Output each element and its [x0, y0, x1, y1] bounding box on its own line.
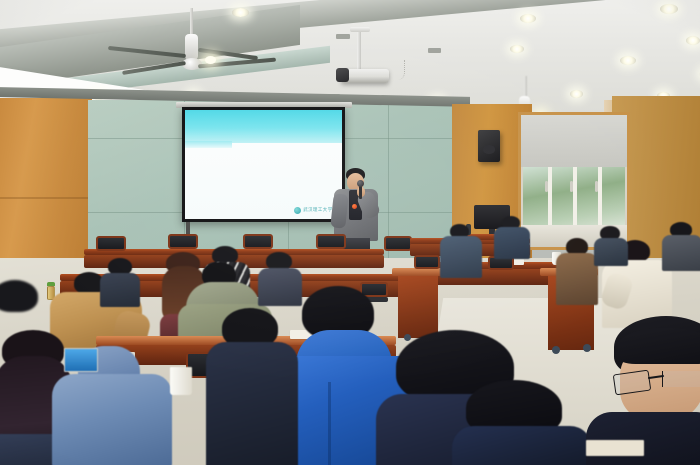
- desk-mid-mobile: [398, 272, 438, 338]
- window-blind: [521, 115, 627, 167]
- ceiling-fan-left: [150, 28, 270, 88]
- projector-pole: [357, 30, 361, 70]
- tea-jar-lid: [47, 282, 55, 286]
- presentation-slide: 武汉理工大学: [185, 110, 342, 219]
- ceiling-projector: [348, 30, 408, 88]
- attendee-torso: [556, 253, 598, 305]
- laptop: [64, 348, 98, 372]
- downlight-icon: [660, 4, 678, 14]
- eyeglass-temple: [662, 371, 700, 387]
- attendee-hair-front: [618, 328, 700, 364]
- attendee-torso: [52, 374, 172, 465]
- slide-logo-mark-icon: [294, 207, 301, 214]
- window-latch: [595, 181, 598, 192]
- chair: [168, 234, 198, 249]
- projector-cable: [388, 60, 405, 80]
- slide-header-band: [185, 110, 342, 143]
- paper-cup: [170, 367, 192, 395]
- desk-caster: [583, 344, 591, 352]
- attendee-torso: [586, 412, 700, 465]
- microphone-head-icon: [357, 180, 364, 187]
- downlight-icon: [510, 45, 524, 53]
- chair: [243, 234, 273, 249]
- attendee-torso: [0, 308, 50, 368]
- slide-logo-text: 武汉理工大学: [303, 207, 332, 213]
- downlight-icon: [520, 14, 536, 23]
- downlight-icon: [620, 56, 636, 65]
- window-latch: [545, 181, 548, 192]
- attendee-torso: [594, 238, 628, 266]
- microphone: [359, 186, 362, 199]
- chair: [96, 236, 126, 251]
- fan-light-icon: [205, 56, 216, 64]
- attendee-torso: [258, 268, 302, 306]
- attendee-torso: [452, 426, 592, 465]
- attendee-torso: [494, 227, 530, 259]
- attendee-jacket-seam: [328, 382, 331, 465]
- desk-caster: [552, 346, 560, 354]
- eyeglass-lens: [613, 370, 652, 396]
- eyeglasses-icon: [614, 370, 700, 392]
- wall-speaker-icon: [478, 130, 500, 162]
- ceiling-vent: [428, 48, 441, 53]
- attendee-torso: [206, 342, 298, 465]
- downlight-icon: [232, 8, 249, 17]
- window-mullion: [598, 167, 602, 229]
- window-mullion: [573, 167, 577, 229]
- projector-ceiling-plate: [350, 27, 370, 32]
- chair: [316, 234, 346, 249]
- desk-mid-mobile-top: [392, 268, 444, 276]
- slide-logo: 武汉理工大学: [294, 207, 332, 214]
- desk-caster: [404, 334, 411, 341]
- presenter-badge-icon: [352, 204, 357, 209]
- fan-downrod: [190, 8, 193, 34]
- attendee-torso: [100, 273, 140, 307]
- chair: [414, 255, 440, 269]
- paper-sheet: [586, 440, 644, 456]
- fan-downrod: [524, 76, 527, 96]
- attendee-torso: [440, 236, 482, 278]
- downlight-icon: [686, 36, 700, 45]
- fan-motor: [185, 34, 198, 60]
- projection-screen: 武汉理工大学: [182, 107, 345, 222]
- window-mullion: [548, 167, 552, 229]
- slide-header-step: [185, 141, 232, 149]
- projector-lens-icon: [336, 68, 349, 82]
- lecture-hall-photo: 武汉理工大学: [0, 0, 700, 465]
- attendee-torso: [662, 235, 700, 271]
- chair: [384, 236, 412, 251]
- window-latch: [570, 181, 573, 192]
